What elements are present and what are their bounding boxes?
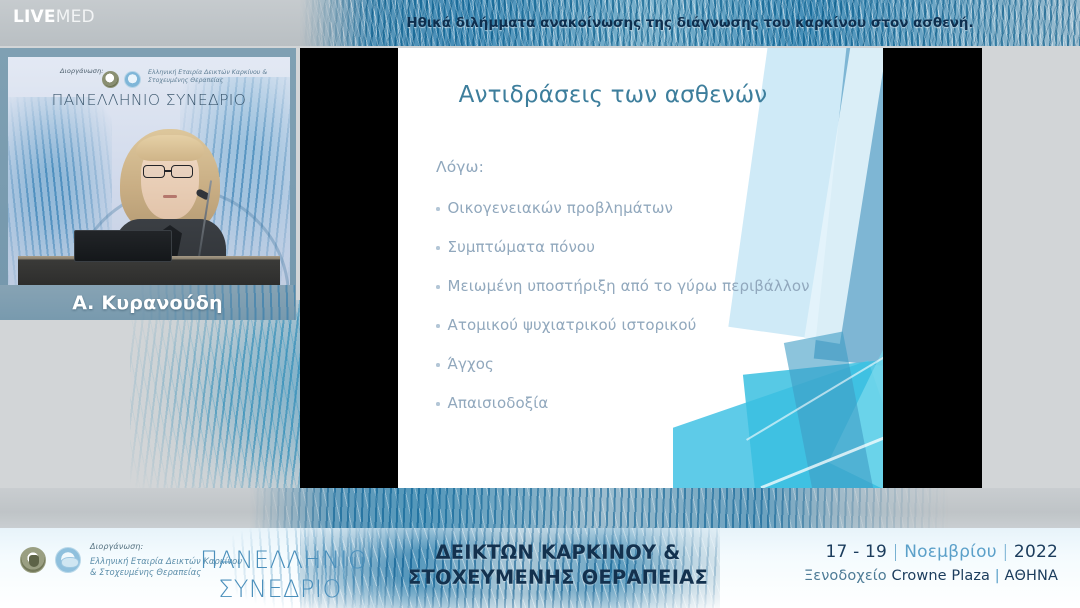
center-title-line-2: ΣΤΟΧΕΥΜΕΝΗΣ ΘΕΡΑΠΕΙΑΣ <box>398 565 718 590</box>
footer-center-title: ΔΕΙΚΤΩΝ ΚΑΡΚΙΝΟΥ & ΣΤΟΧΕΥΜΕΝΗΣ ΘΕΡΑΠΕΙΑΣ <box>398 540 718 590</box>
logo-med-text: MED <box>56 7 95 27</box>
webcast-player: LIVEMED Ηθικά διλήμματα ανακοίνωσης της … <box>0 0 1080 608</box>
bullet-dot-icon <box>436 207 440 211</box>
presentation-slide: Αντιδράσεις των ασθενών Λόγω: Οικογενεια… <box>398 48 883 488</box>
speaker-fringe <box>136 135 204 161</box>
conference-date: 17 - 19 | Νοεμβρίου | 2022 <box>804 542 1058 562</box>
congress-title-line-1: ΠΑΝΕΛΛΗΝΙΟ <box>200 546 360 575</box>
bullet-dot-icon <box>436 363 440 367</box>
center-title-line-1: ΔΕΙΚΤΩΝ ΚΑΡΚΙΝΟΥ & <box>398 540 718 565</box>
footer-congress-title: ΠΑΝΕΛΛΗΝΙΟ ΣΥΝΕΔΡΙΟ <box>200 546 360 604</box>
venue-city: ΑΘΗΝΑ <box>1004 568 1058 584</box>
video-backdrop-org-label: Διοργάνωση: <box>60 67 103 75</box>
speaker-mouth <box>163 195 177 198</box>
speaker-video-frame[interactable]: Διοργάνωση: Ελληνική Εταιρία Δεικτών Καρ… <box>8 57 290 290</box>
laptop-screen <box>74 230 172 262</box>
slide-bullet-item: Άγχος <box>436 356 856 373</box>
footer-date-venue-block: 17 - 19 | Νοεμβρίου | 2022 Ξενοδοχείο Cr… <box>804 542 1058 584</box>
date-month: Νοεμβρίου <box>904 542 997 562</box>
conference-venue: Ξενοδοχείο Crowne Plaza | ΑΘΗΝΑ <box>804 568 1058 584</box>
bullet-dot-icon <box>436 246 440 250</box>
speaker-name-label: Α. Κυρανούδη <box>72 292 223 314</box>
slide-bullet-text: Μειωμένη υποστήριξη από το γύρω περιβάλλ… <box>448 278 810 295</box>
lower-brush-band <box>0 488 1080 528</box>
date-days: 17 - 19 <box>825 542 887 562</box>
speaker-video-panel[interactable]: Διοργάνωση: Ελληνική Εταιρία Δεικτών Καρ… <box>0 48 296 320</box>
slide-bullet-text: Οικογενειακών προβλημάτων <box>448 200 673 217</box>
slide-stage[interactable]: Αντιδράσεις των ασθενών Λόγω: Οικογενεια… <box>300 48 982 488</box>
lower-brush-texture <box>250 488 950 528</box>
speaker-name-bar: Α. Κυρανούδη <box>0 285 295 320</box>
video-backdrop-logo-society-icon <box>124 71 141 88</box>
speaker-glasses-left <box>143 165 165 178</box>
speaker-glasses-bridge <box>165 170 171 172</box>
livemed-logo[interactable]: LIVEMED <box>13 7 95 27</box>
date-separator-1: | <box>893 542 899 562</box>
slide-lead-text: Λόγω: <box>436 158 856 176</box>
organizer-society-icon <box>55 547 81 573</box>
slide-bullet-item: Συμπτώματα πόνου <box>436 239 856 256</box>
presentation-title: Ηθικά διλήμματα ανακοίνωσης της διάγνωση… <box>300 0 1080 46</box>
bullet-dot-icon <box>436 402 440 406</box>
slide-bullet-text: Ατομικού ψυχιατρικού ιστορικού <box>448 317 697 334</box>
slide-bullet-text: Συμπτώματα πόνου <box>448 239 595 256</box>
slide-bullet-item: Απαισιοδοξία <box>436 395 856 412</box>
venue-prefix: Ξενοδοχείο <box>804 568 887 584</box>
slide-title: Αντιδράσεις των ασθενών <box>398 82 828 108</box>
slide-bullet-text: Απαισιοδοξία <box>448 395 549 412</box>
slide-bullet-item: Μειωμένη υποστήριξη από το γύρω περιβάλλ… <box>436 278 856 295</box>
slide-bullet-text: Άγχος <box>448 356 494 373</box>
congress-title-line-2: ΣΥΝΕΔΡΙΟ <box>200 575 360 604</box>
video-backdrop-org-name: Ελληνική Εταιρία Δεικτών Καρκίνου & Στοχ… <box>148 69 268 85</box>
bullet-dot-icon <box>436 285 440 289</box>
date-year: 2022 <box>1014 542 1058 562</box>
speaker-glasses-right <box>171 165 193 178</box>
slide-bullet-item: Ατομικού ψυχιατρικού ιστορικού <box>436 317 856 334</box>
date-separator-2: | <box>1002 542 1008 562</box>
video-backdrop-heading: ΠΑΝΕΛΛΗΝΙΟ ΣΥΝΕΔΡΙΟ <box>24 91 274 109</box>
bullet-dot-icon <box>436 324 440 328</box>
organizer-seal-icon <box>20 547 46 573</box>
venue-separator: | <box>995 568 1000 584</box>
venue-name: Crowne Plaza <box>891 568 990 584</box>
logo-live-text: LIVE <box>13 7 56 27</box>
slide-body: Λόγω: Οικογενειακών προβλημάτων Συμπτώμα… <box>436 158 856 434</box>
app-header: LIVEMED Ηθικά διλήμματα ανακοίνωσης της … <box>0 0 1080 46</box>
slide-bullet-item: Οικογενειακών προβλημάτων <box>436 200 856 217</box>
video-backdrop-logo-seal-icon <box>102 71 119 88</box>
